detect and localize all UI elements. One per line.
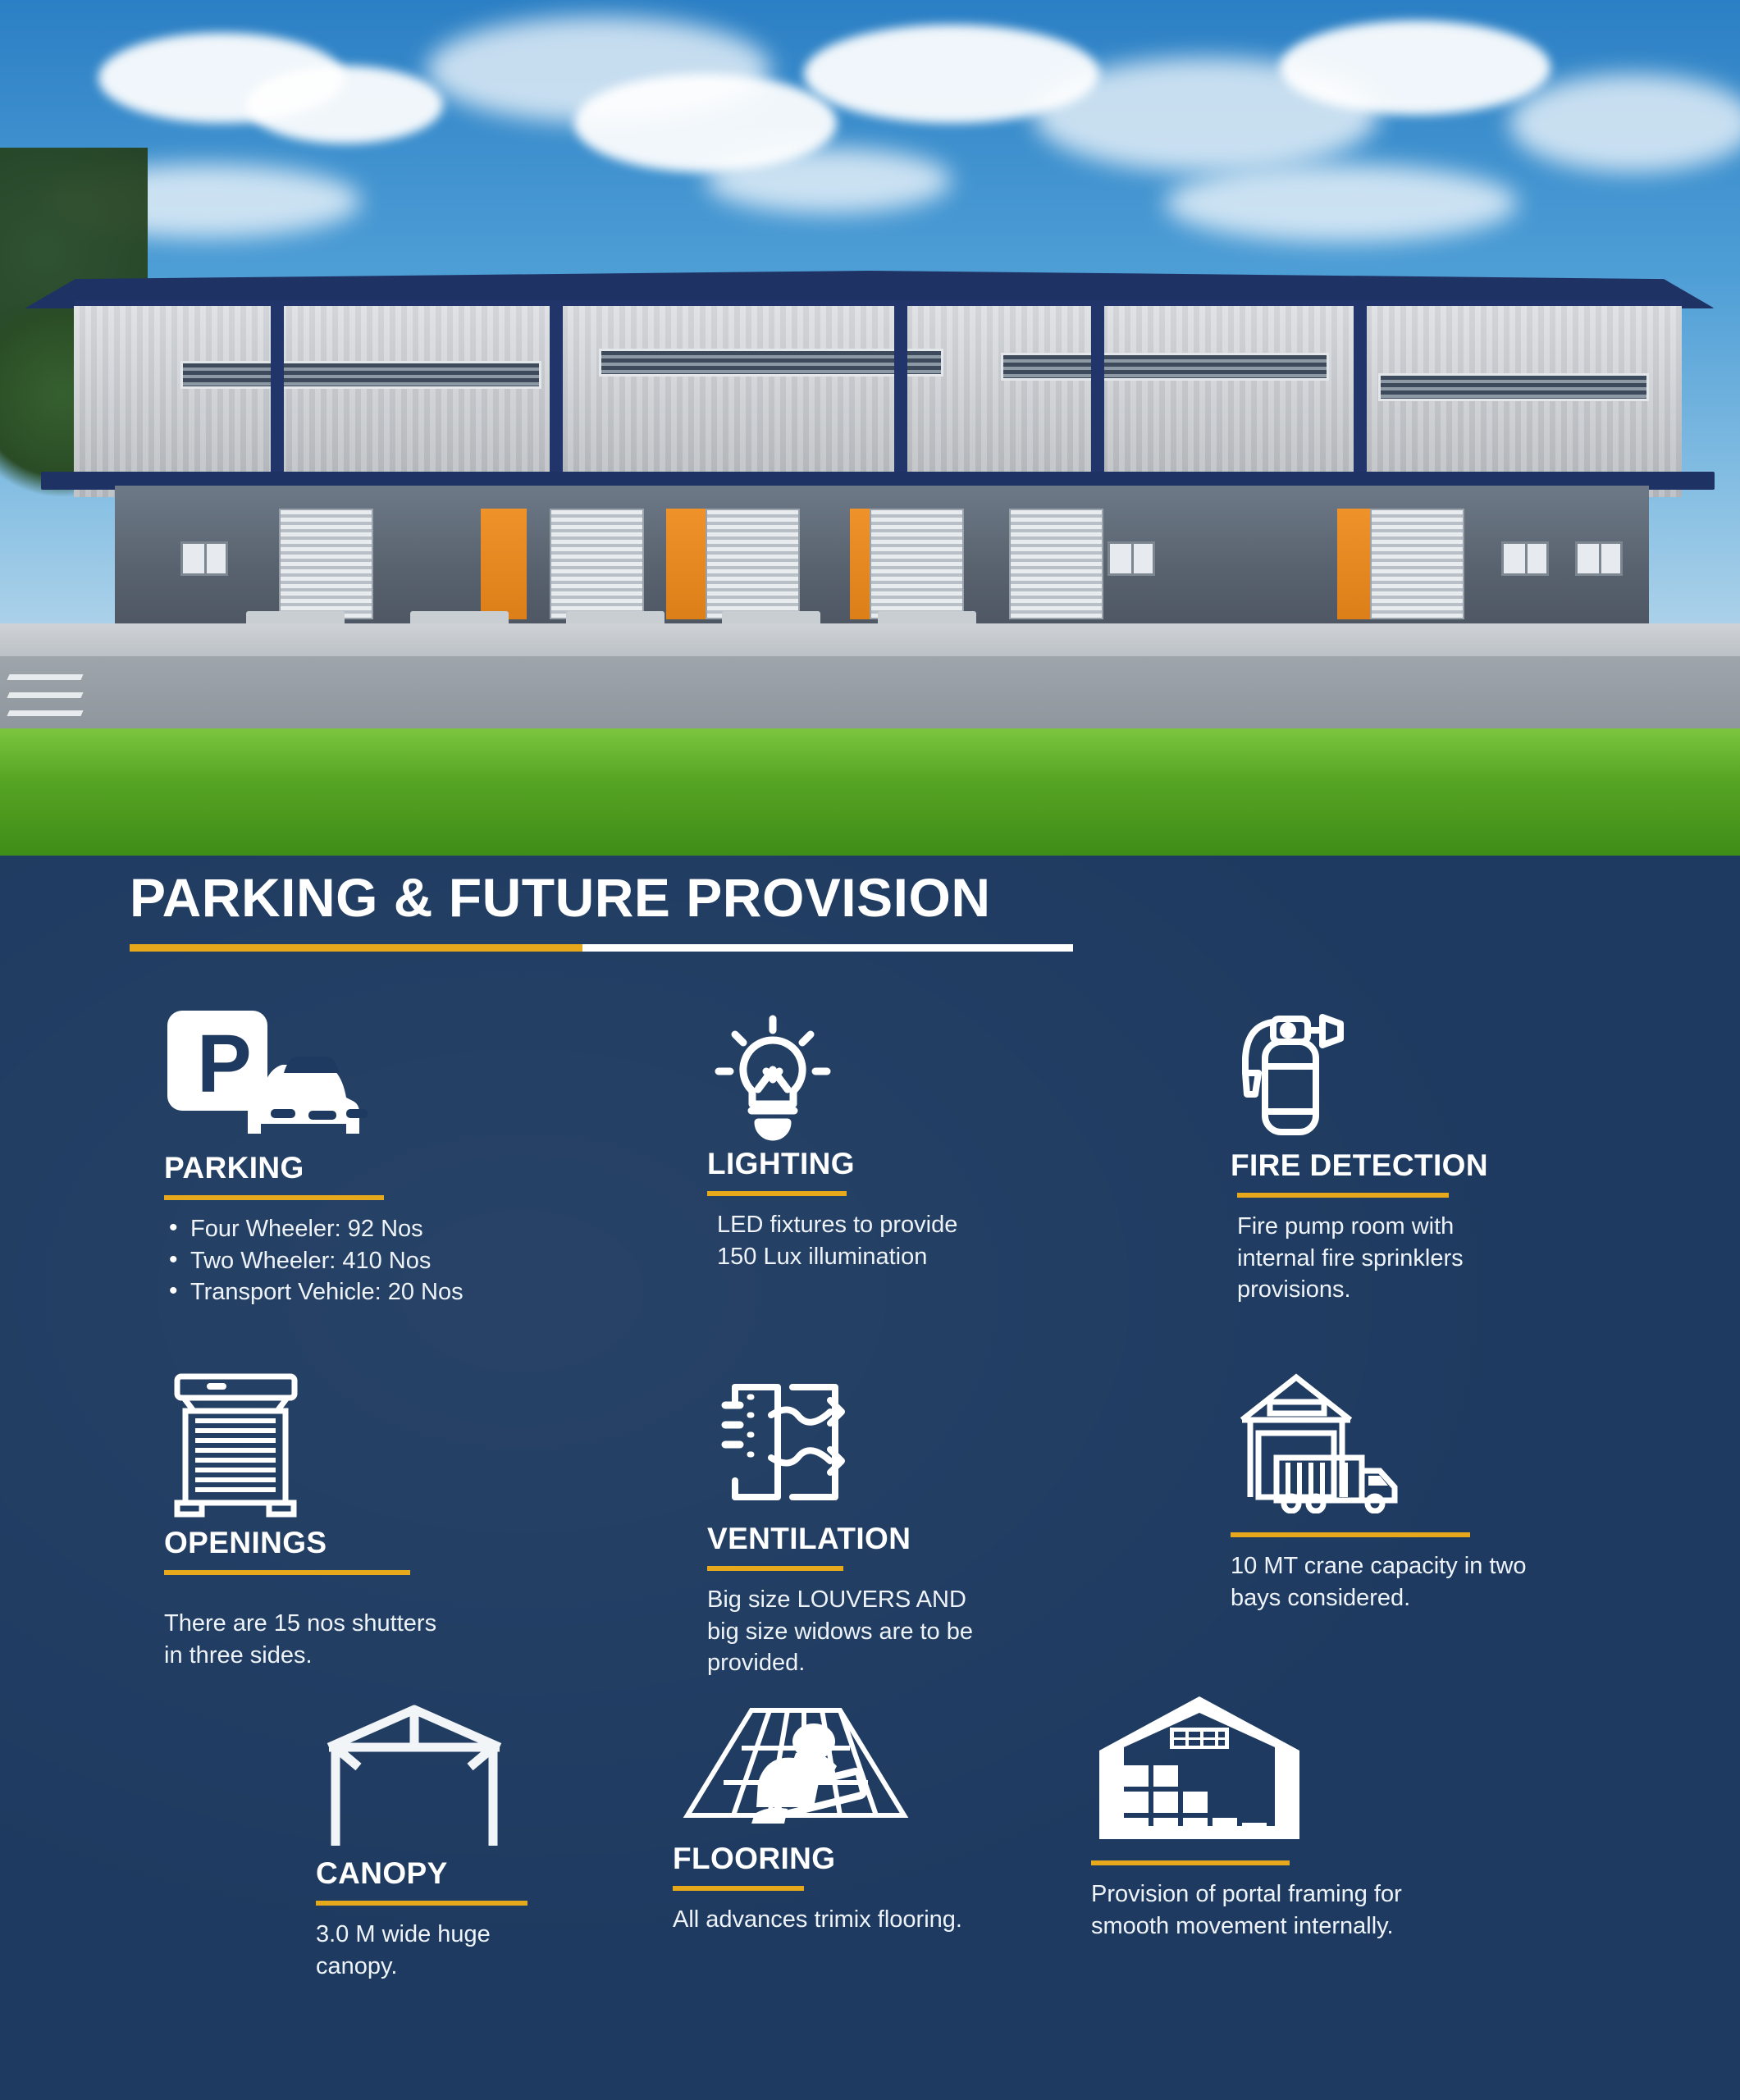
feature-ventilation: VENTILATION Big size LOUVERS AND big siz… bbox=[707, 1366, 1093, 1679]
cloud-shape bbox=[1280, 21, 1550, 115]
underline-yellow-segment bbox=[130, 944, 582, 952]
feature-text: 3.0 M wide huge canopy. bbox=[316, 1919, 562, 1982]
feature-flooring: FLOORING All advances trimix flooring. bbox=[673, 1694, 1058, 1936]
section-header: PARKING & FUTURE PROVISION bbox=[130, 870, 1245, 952]
title-rule bbox=[707, 1566, 843, 1571]
feature-title: LIGHTING bbox=[707, 1147, 1093, 1181]
feature-title: FLOORING bbox=[673, 1842, 1058, 1876]
facade-window bbox=[1107, 541, 1155, 576]
facade-louver bbox=[180, 361, 541, 389]
structural-pillar bbox=[271, 304, 284, 488]
feature-text: All advances trimix flooring. bbox=[673, 1904, 1017, 1936]
ventilation-airflow-icon bbox=[707, 1366, 1093, 1522]
facade-window bbox=[180, 541, 228, 576]
feature-lighting: LIGHTING LED fixtures to provide 150 Lux… bbox=[707, 1007, 1093, 1272]
underline-white-segment bbox=[582, 944, 1073, 952]
feature-title: OPENINGS bbox=[164, 1526, 550, 1560]
portal-frame-warehouse-icon bbox=[1091, 1690, 1477, 1846]
structural-pillar bbox=[550, 304, 563, 488]
structural-pillar bbox=[894, 304, 907, 488]
title-rule bbox=[164, 1570, 410, 1575]
feature-parking: P PARKING Four Wheeler: 92 Nos Two Whee bbox=[164, 1007, 623, 1308]
fire-extinguisher-icon bbox=[1231, 1001, 1616, 1148]
facade-window bbox=[1575, 541, 1623, 576]
list-item: Transport Vehicle: 20 Nos bbox=[164, 1276, 623, 1308]
feature-openings: OPENINGS There are 15 nos shutters in th… bbox=[164, 1370, 550, 1671]
title-rule bbox=[707, 1191, 847, 1196]
title-rule bbox=[1231, 1532, 1470, 1537]
feature-title: PARKING bbox=[164, 1151, 623, 1185]
light-bulb-icon bbox=[707, 1007, 1093, 1147]
title-rule bbox=[673, 1886, 804, 1891]
page-title: PARKING & FUTURE PROVISION bbox=[130, 870, 1245, 926]
cloud-shape bbox=[706, 148, 952, 213]
feature-portal-framing: Provision of portal framing for smooth m… bbox=[1091, 1690, 1477, 1942]
lawn bbox=[0, 728, 1740, 856]
structural-pillar bbox=[1091, 304, 1104, 488]
title-underline bbox=[130, 944, 1073, 952]
parking-sign-car-icon: P bbox=[164, 1007, 623, 1151]
road-marking bbox=[7, 692, 83, 698]
feature-text: Big size LOUVERS AND big size widows are… bbox=[707, 1584, 1002, 1679]
facade-window bbox=[1501, 541, 1549, 576]
feature-title: FIRE DETECTION bbox=[1231, 1148, 1616, 1183]
feature-canopy: CANOPY 3.0 M wide huge canopy. bbox=[316, 1696, 701, 1982]
facade-louver bbox=[1001, 353, 1329, 381]
cloud-shape bbox=[246, 66, 443, 144]
title-rule bbox=[1091, 1860, 1290, 1865]
feature-fire-detection: FIRE DETECTION Fire pump room with inter… bbox=[1231, 1001, 1616, 1306]
feature-text: LED fixtures to provide 150 Lux illumina… bbox=[717, 1209, 1000, 1272]
cloud-shape bbox=[1509, 74, 1740, 172]
roller-shutter bbox=[550, 509, 644, 619]
list-item: Two Wheeler: 410 Nos bbox=[164, 1245, 623, 1277]
feature-crane-capacity: 10 MT crane capacity in two bays conside… bbox=[1231, 1366, 1616, 1614]
dock-bay-panel bbox=[481, 509, 527, 619]
svg-text:P: P bbox=[197, 1018, 252, 1110]
warehouse-hero-image bbox=[0, 0, 1740, 856]
list-item: Four Wheeler: 92 Nos bbox=[164, 1213, 623, 1245]
access-road bbox=[0, 656, 1740, 738]
road-marking bbox=[7, 674, 83, 680]
flooring-worker-icon bbox=[673, 1694, 1058, 1842]
canopy-truss-icon bbox=[316, 1696, 701, 1856]
cloud-shape bbox=[1165, 164, 1518, 242]
rolling-shutter-icon bbox=[164, 1370, 550, 1526]
facade-louver bbox=[1378, 373, 1649, 401]
facade-louver bbox=[599, 349, 943, 377]
roller-shutter bbox=[1370, 509, 1464, 619]
roller-shutter bbox=[870, 509, 964, 619]
feature-text: 10 MT crane capacity in two bays conside… bbox=[1231, 1550, 1542, 1614]
feature-bullets: Four Wheeler: 92 Nos Two Wheeler: 410 No… bbox=[164, 1213, 623, 1308]
roller-shutter bbox=[1009, 509, 1103, 619]
roller-shutter bbox=[706, 509, 800, 619]
feature-text: Fire pump room with internal fire sprink… bbox=[1237, 1211, 1532, 1306]
feature-text: Provision of portal framing for smooth m… bbox=[1091, 1879, 1427, 1942]
feature-title: CANOPY bbox=[316, 1856, 701, 1891]
title-rule bbox=[1237, 1193, 1449, 1198]
structural-pillar bbox=[1354, 304, 1367, 488]
title-rule bbox=[164, 1195, 384, 1200]
warehouse-building bbox=[25, 271, 1715, 623]
road-marking bbox=[7, 710, 83, 716]
feature-text: There are 15 nos shutters in three sides… bbox=[164, 1608, 459, 1671]
roller-shutter bbox=[279, 509, 373, 619]
title-rule bbox=[316, 1901, 527, 1906]
warehouse-truck-crane-icon bbox=[1231, 1366, 1616, 1518]
infographic-page: PARKING & FUTURE PROVISION P bbox=[0, 0, 1740, 2100]
feature-title: VENTILATION bbox=[707, 1522, 1093, 1556]
